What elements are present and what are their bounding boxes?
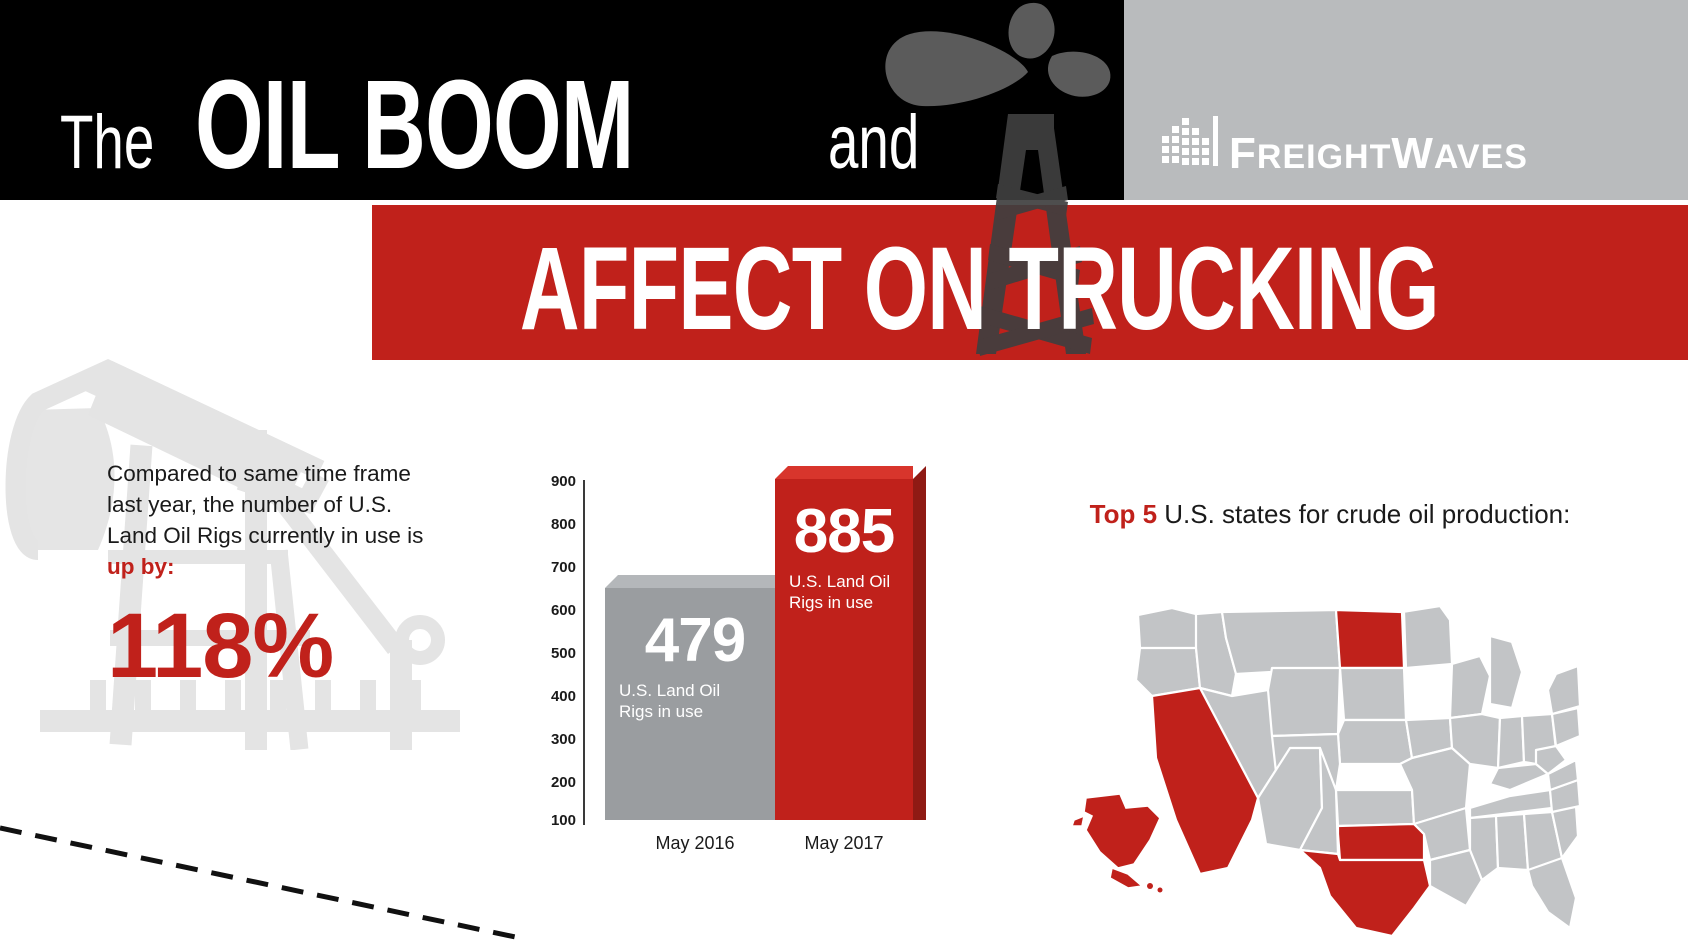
bar-value-label: 885 (775, 501, 913, 563)
headline-line-1: The OIL BOOM and (60, 52, 1060, 182)
state-al (1496, 814, 1528, 870)
y-tick: 400 (530, 688, 576, 705)
state-ok (1338, 824, 1424, 860)
y-axis-line (583, 480, 585, 825)
logo-aves: AVES (1434, 138, 1528, 176)
state-mn (1402, 606, 1452, 668)
logo-f: F (1229, 129, 1257, 178)
state-tx (1300, 850, 1430, 936)
state-wy (1268, 668, 1340, 736)
y-tick: 800 (530, 516, 576, 533)
freightwaves-bars-icon (1162, 110, 1220, 175)
left-stat-text: Compared to same time frame last year, t… (107, 461, 423, 548)
y-tick: 900 (530, 473, 576, 490)
map-heading: Top 5 U.S. states for crude oil producti… (1020, 496, 1640, 532)
bar-caption: U.S. Land Oil Rigs in use (605, 680, 785, 722)
headline-its: its (271, 253, 319, 329)
y-tick: 200 (530, 774, 576, 791)
dashed-divider-line (0, 750, 520, 940)
state-sd (1340, 668, 1406, 720)
left-stat-accent: up by: (107, 554, 175, 579)
freightwaves-wordmark: FREIGHTWAVES (1229, 133, 1528, 175)
state-ak (1072, 794, 1163, 893)
state-ne (1338, 720, 1412, 764)
state-mt (1222, 610, 1340, 674)
state-mi (1490, 636, 1522, 708)
bar-top-face (605, 575, 785, 588)
bar-caption-line2: Rigs in use (789, 593, 873, 612)
headline-affect-on-trucking: AFFECT ON TRUCKING (520, 221, 1439, 357)
logo-reight: REIGHT (1257, 138, 1391, 176)
x-label-may-2016: May 2016 (605, 833, 785, 854)
y-tick: 100 (530, 812, 576, 829)
y-tick: 300 (530, 731, 576, 748)
bar-caption: U.S. Land Oil Rigs in use (775, 571, 913, 613)
y-axis-ticks: 900 800 700 600 500 400 300 200 100 (520, 455, 576, 855)
state-fl (1528, 858, 1576, 928)
x-label-may-2017: May 2017 (775, 833, 913, 854)
bar-value-label: 479 (605, 610, 785, 672)
state-nd (1336, 610, 1404, 668)
bar-may-2017: 885 U.S. Land Oil Rigs in use (775, 479, 913, 820)
us-states-map (1000, 568, 1580, 940)
bar-may-2016: 479 U.S. Land Oil Rigs in use (605, 588, 785, 820)
bar-side-face (913, 466, 926, 820)
logo-w: W (1391, 129, 1434, 178)
map-heading-rest: U.S. states for crude oil production: (1157, 499, 1570, 529)
bar-caption-line2: Rigs in use (619, 702, 703, 721)
state-ks (1336, 790, 1414, 826)
y-tick: 500 (530, 645, 576, 662)
headline-oil-boom: OIL BOOM (195, 52, 634, 197)
headline-the: The (60, 99, 154, 186)
map-heading-accent: Top 5 (1090, 499, 1157, 529)
bar-caption-line1: U.S. Land Oil (619, 681, 720, 700)
freightwaves-logo[interactable]: FREIGHTWAVES (1162, 110, 1528, 175)
state-ny (1548, 666, 1580, 714)
headline-line-2: its AFFECT ON TRUCKING (372, 205, 1688, 360)
bar-top-face (775, 466, 913, 479)
rig-count-bar-chart: 900 800 700 600 500 400 300 200 100 479 … (520, 455, 980, 875)
left-stat-block: Compared to same time frame last year, t… (107, 458, 447, 692)
bar-caption-line1: U.S. Land Oil (789, 572, 890, 591)
percent-increase-value: 118% (107, 600, 447, 692)
state-wi (1450, 656, 1490, 718)
headline-and: and (828, 99, 919, 186)
infographic-page: The OIL BOOM and (0, 0, 1688, 940)
state-in (1498, 716, 1524, 768)
y-tick: 600 (530, 602, 576, 619)
left-stat-paragraph: Compared to same time frame last year, t… (107, 458, 447, 582)
y-tick: 700 (530, 559, 576, 576)
